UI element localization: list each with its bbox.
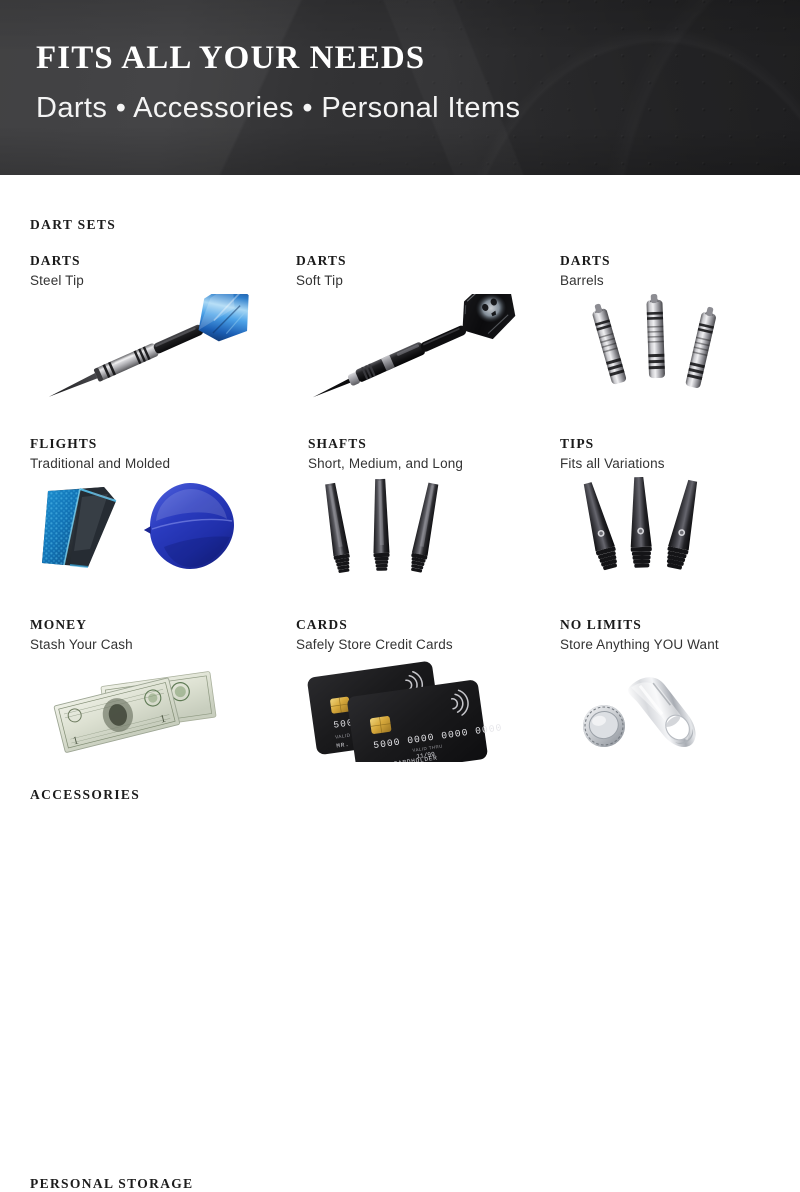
tip-left <box>578 481 620 572</box>
art-credit-cards: 5000 0000 VALID THRU MR. CARDHOLDER <box>296 658 562 762</box>
item-title: DARTS <box>296 253 532 269</box>
barrel-center <box>646 294 665 378</box>
item-title: CARDS <box>296 617 532 633</box>
shaft-right <box>408 482 441 573</box>
header-banner: FITS ALL YOUR NEEDS Darts • Accessories … <box>0 0 800 175</box>
item-subtitle: Traditional and Molded <box>30 456 266 471</box>
item-subtitle: Store Anything YOU Want <box>560 637 798 652</box>
item-title: DARTS <box>560 253 798 269</box>
flight-traditional <box>42 487 116 567</box>
item-subtitle: Steel Tip <box>30 273 266 288</box>
item-darts-soft-tip: DARTS Soft Tip <box>266 253 532 398</box>
item-title: NO LIMITS <box>560 617 798 633</box>
item-darts-barrels: DARTS Barrels <box>532 253 798 398</box>
item-shafts: SHAFTS Short, Medium, and Long <box>266 436 532 581</box>
section-accessories: ACCESSORIES FLIGHTS Traditional and Mold… <box>0 398 800 581</box>
barrel-left <box>590 302 627 385</box>
item-subtitle: Safely Store Credit Cards <box>296 637 532 652</box>
flight-molded <box>144 483 234 569</box>
item-title: TIPS <box>560 436 798 452</box>
bottle-cap <box>580 702 629 751</box>
item-title: MONEY <box>30 617 266 633</box>
barrel-right <box>685 305 718 388</box>
item-title: DARTS <box>30 253 266 269</box>
header-subtitle: Darts • Accessories • Personal Items <box>36 94 520 123</box>
infographic-page: FITS ALL YOUR NEEDS Darts • Accessories … <box>0 0 800 800</box>
item-subtitle: Barrels <box>560 273 798 288</box>
art-bottle-opener <box>560 658 800 762</box>
item-subtitle: Fits all Variations <box>560 456 798 471</box>
section-label-personal-storage: PERSONAL STORAGE <box>30 1176 194 1192</box>
item-title: FLIGHTS <box>30 436 266 452</box>
opener-body <box>626 669 704 756</box>
art-dart-tips <box>560 477 800 581</box>
content-area: DART SETS DARTS Steel Tip <box>0 175 800 762</box>
item-flights: FLIGHTS Traditional and Molded <box>0 436 266 581</box>
art-dollar-bills: 1 <box>30 658 296 762</box>
shaft-left <box>322 482 352 573</box>
item-darts-steel-tip: DARTS Steel Tip <box>0 253 266 398</box>
item-subtitle: Soft Tip <box>296 273 532 288</box>
header-text-block: FITS ALL YOUR NEEDS Darts • Accessories … <box>36 42 520 123</box>
item-no-limits: NO LIMITS Store Anything YOU Want <box>532 617 798 762</box>
section-personal-storage: PERSONAL STORAGE MONEY Stash Your Cash <box>0 581 800 762</box>
item-subtitle: Short, Medium, and Long <box>308 456 532 471</box>
item-subtitle: Stash Your Cash <box>30 637 266 652</box>
header-title: FITS ALL YOUR NEEDS <box>36 42 520 75</box>
item-cards: CARDS Safely Store Credit Cards <box>266 617 532 762</box>
section-label-accessories: ACCESSORIES <box>30 787 140 803</box>
art-dart-barrels <box>560 294 800 398</box>
item-money: MONEY Stash Your Cash <box>0 617 266 762</box>
tip-right <box>664 479 703 571</box>
tip-center <box>628 477 652 568</box>
item-tips: TIPS Fits all Variations <box>532 436 798 581</box>
art-soft-tip-dart <box>296 294 562 398</box>
art-dart-flights <box>30 477 296 581</box>
shaft-center <box>372 479 390 571</box>
item-title: SHAFTS <box>308 436 532 452</box>
art-steel-tip-dart <box>30 294 296 398</box>
section-dart-sets: DART SETS DARTS Steel Tip <box>0 175 800 398</box>
